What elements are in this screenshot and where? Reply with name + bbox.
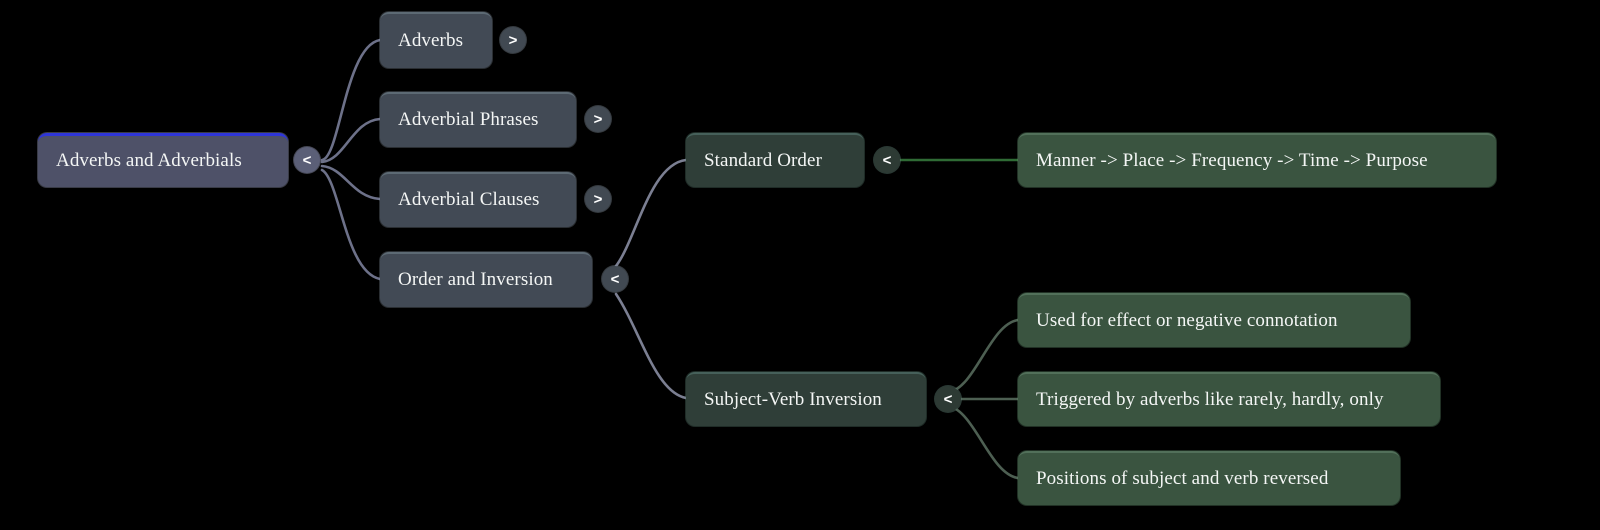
node-root-label: Adverbs and Adverbials [56, 151, 242, 172]
edge-root-to-adverbial-clauses [322, 166, 380, 199]
edge-subject-verb-inversion-to-used-for-effect [949, 320, 1018, 392]
edge-order-and-inversion-to-subject-verb-inversion [616, 294, 686, 398]
node-positions-reversed-label: Positions of subject and verb reversed [1036, 469, 1328, 490]
node-adverbs-label: Adverbs [398, 31, 463, 52]
node-triggered-by-adverbs-label: Triggered by adverbs like rarely, hardly… [1036, 390, 1384, 411]
node-subject-verb-inversion[interactable]: Subject-Verb Inversion [686, 372, 926, 426]
node-standard-order-label: Standard Order [704, 151, 822, 172]
node-adverbial-clauses-label: Adverbial Clauses [398, 190, 540, 211]
node-root[interactable]: Adverbs and Adverbials [38, 133, 288, 187]
node-adverbial-phrases-label: Adverbial Phrases [398, 110, 538, 131]
edge-subject-verb-inversion-to-positions-reversed [949, 406, 1018, 478]
node-used-for-effect[interactable]: Used for effect or negative connotation [1018, 293, 1410, 347]
node-adverbial-phrases-toggle-expand-icon[interactable]: > [585, 106, 611, 132]
mindmap-canvas: Adverbs and Adverbials<Adverbs>Adverbial… [0, 0, 1600, 530]
node-adverbs-toggle-expand-icon[interactable]: > [500, 27, 526, 53]
edge-order-and-inversion-to-standard-order [616, 160, 686, 266]
node-adverbial-phrases[interactable]: Adverbial Phrases [380, 92, 576, 147]
node-order-and-inversion-label: Order and Inversion [398, 270, 553, 291]
node-subject-verb-inversion-label: Subject-Verb Inversion [704, 390, 882, 411]
edge-root-to-adverbs [322, 40, 380, 160]
node-adverbs[interactable]: Adverbs [380, 12, 492, 68]
node-adverbial-clauses[interactable]: Adverbial Clauses [380, 172, 576, 227]
node-root-toggle-collapse-icon[interactable]: < [294, 147, 320, 173]
node-adverbial-clauses-toggle-expand-icon[interactable]: > [585, 186, 611, 212]
node-used-for-effect-label: Used for effect or negative connotation [1036, 311, 1338, 332]
node-positions-reversed[interactable]: Positions of subject and verb reversed [1018, 451, 1400, 505]
edge-root-to-adverbial-phrases [322, 119, 380, 162]
node-standard-order[interactable]: Standard Order [686, 133, 864, 187]
node-manner-place-order[interactable]: Manner -> Place -> Frequency -> Time -> … [1018, 133, 1496, 187]
node-triggered-by-adverbs[interactable]: Triggered by adverbs like rarely, hardly… [1018, 372, 1440, 426]
node-subject-verb-inversion-toggle-collapse-icon[interactable]: < [935, 386, 961, 412]
node-order-and-inversion-toggle-collapse-icon[interactable]: < [602, 266, 628, 292]
node-order-and-inversion[interactable]: Order and Inversion [380, 252, 592, 307]
edge-root-to-order-and-inversion [322, 170, 380, 279]
node-standard-order-toggle-collapse-icon[interactable]: < [874, 147, 900, 173]
node-manner-place-order-label: Manner -> Place -> Frequency -> Time -> … [1036, 151, 1428, 172]
